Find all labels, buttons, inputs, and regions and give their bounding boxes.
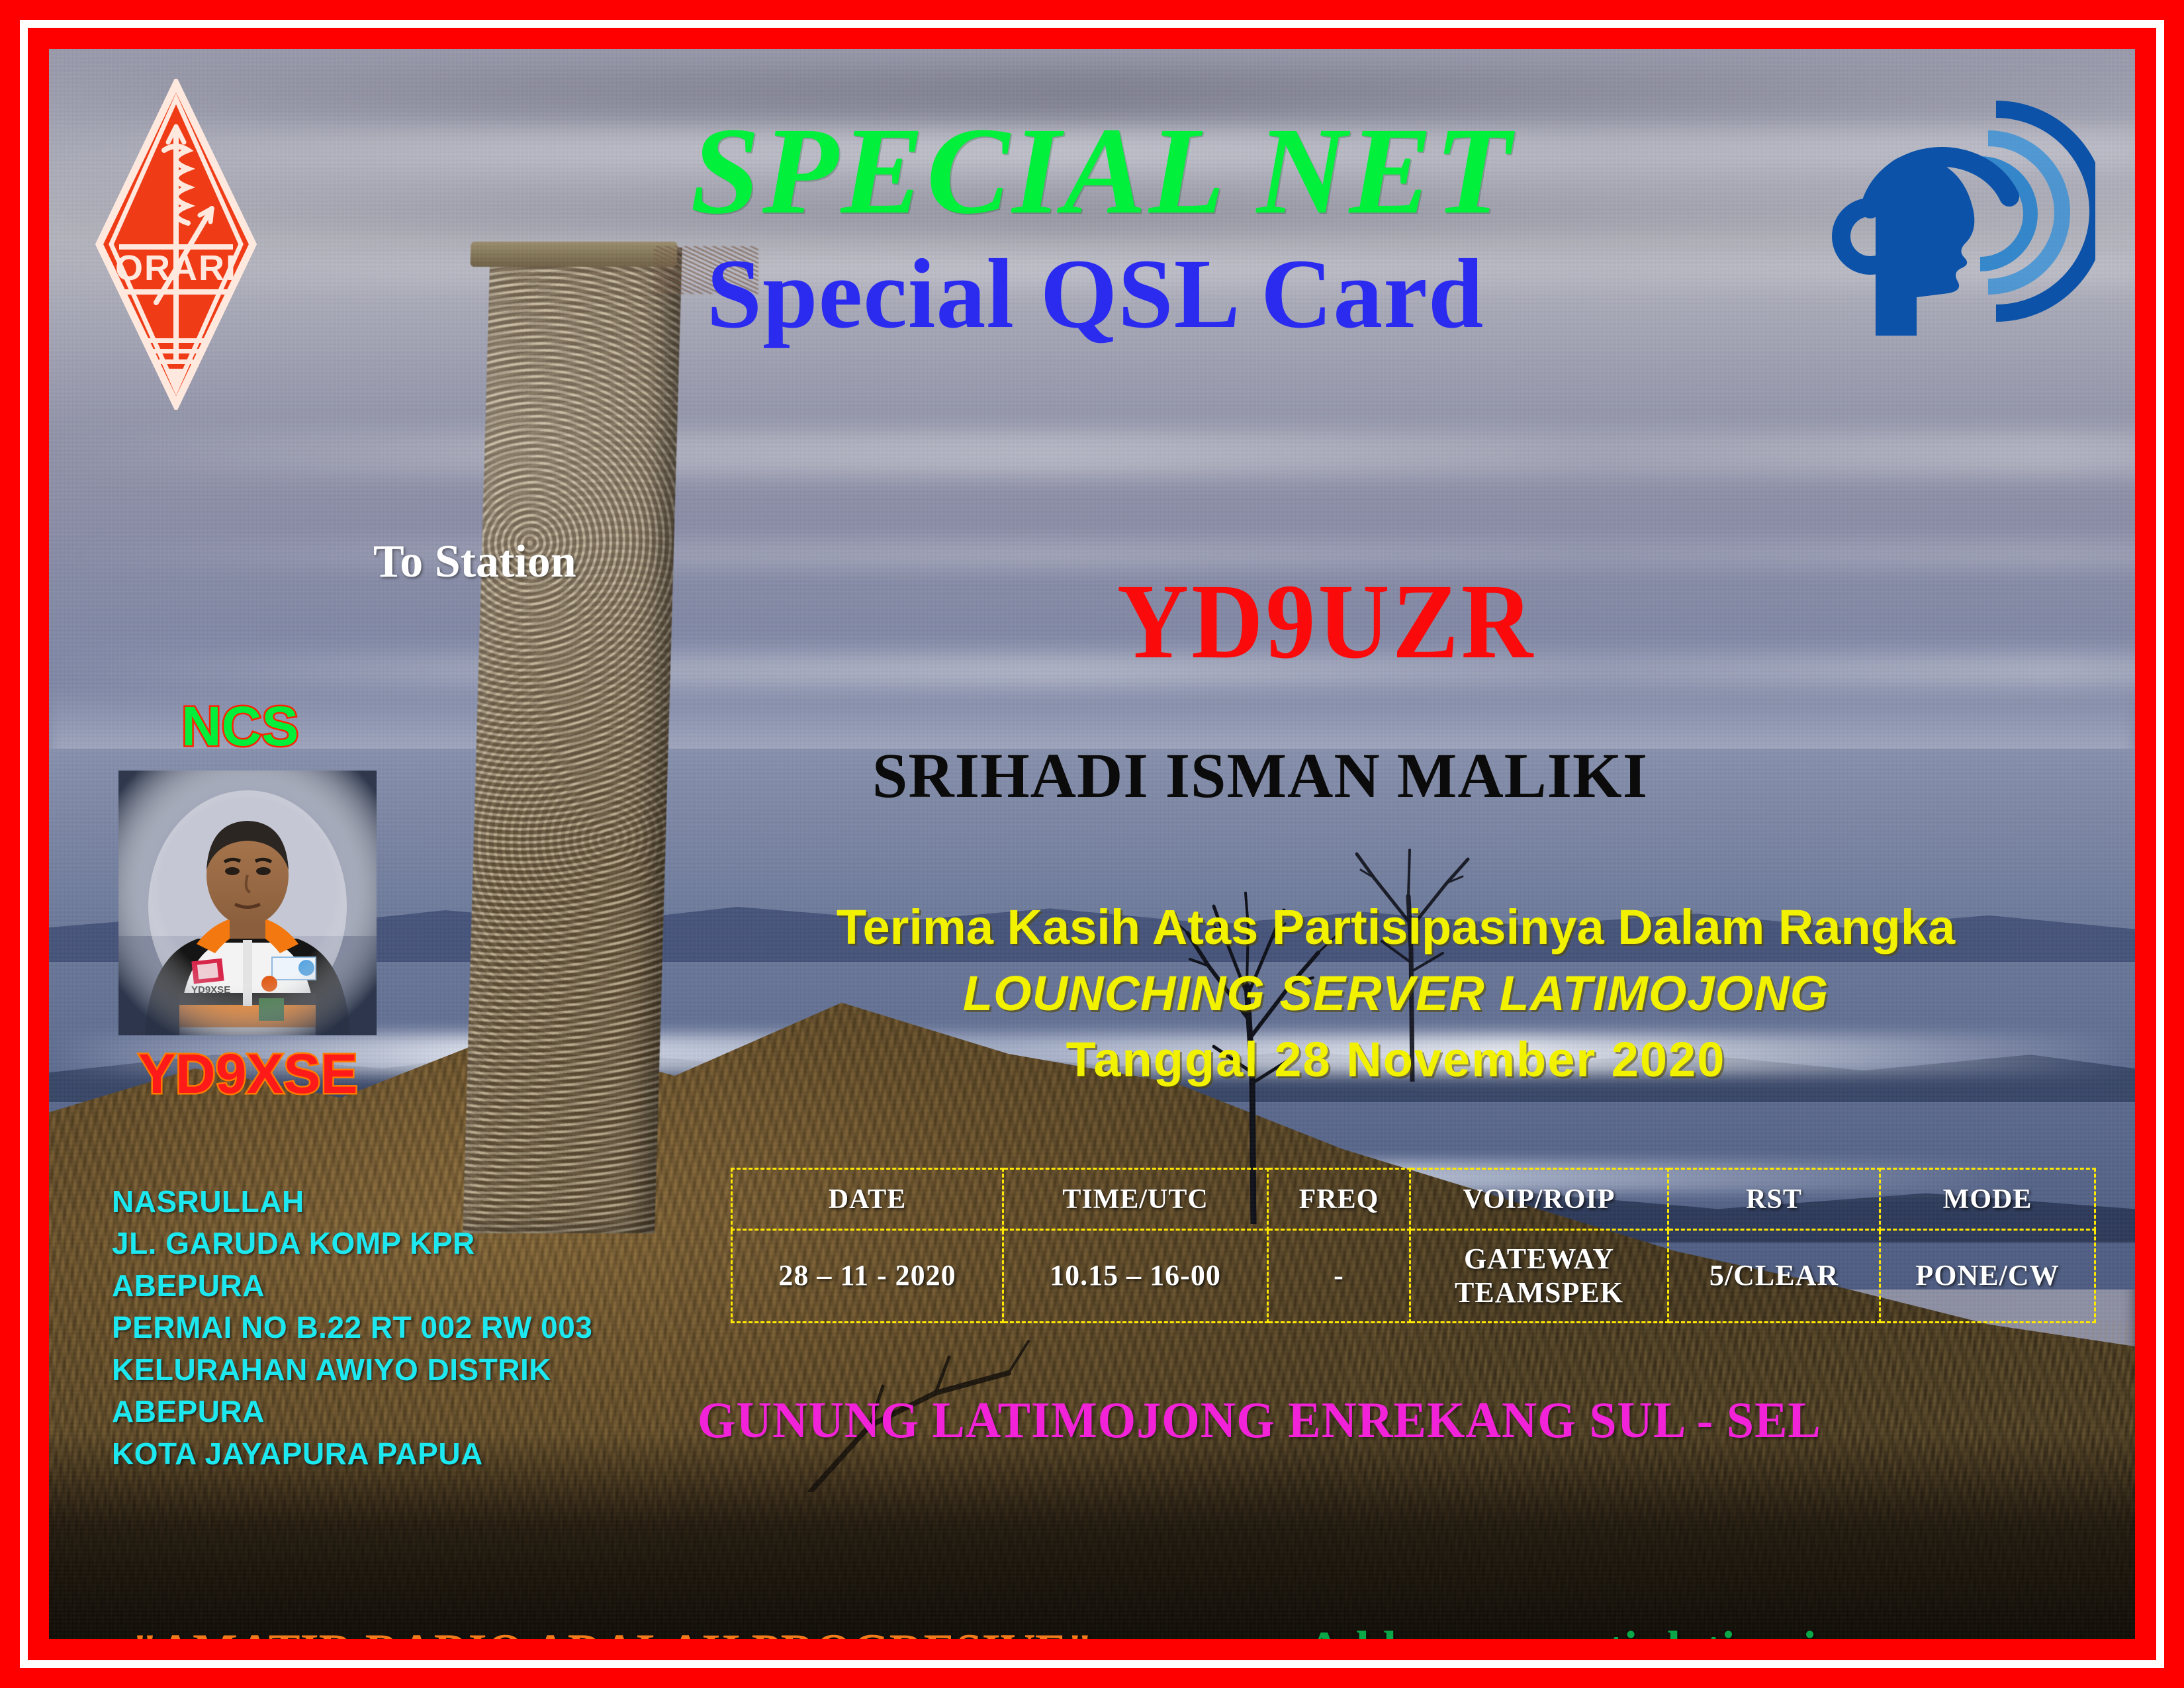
address-line: ABEPURA	[112, 1391, 592, 1432]
to-station-label: To Station	[373, 536, 576, 588]
thanks-line: Terima Kasih Atas Partisipasinya Dalam R…	[757, 903, 2034, 952]
address-line: ABEPURA	[112, 1265, 592, 1307]
operator-portrait-photo: YD9XSE	[118, 771, 377, 1035]
cell-voip-roip: GATEWAY TEAMSPEK	[1410, 1230, 1668, 1323]
card-white-gap: ORARI	[20, 20, 2164, 1668]
cell-rst: 5/CLEAR	[1668, 1230, 1880, 1323]
operator-name: SRIHADI ISMAN MALIKI	[797, 744, 1723, 808]
page-title-special-net: SPECIAL NET	[49, 109, 2135, 233]
ncs-label: NCS	[181, 694, 298, 759]
qsl-card: ORARI	[0, 0, 2184, 1688]
cell-time-utc: 10.15 – 16-00	[1003, 1230, 1268, 1323]
table-header-row: DATE TIME/UTC FREQ VOIP/ROIP RST MODE	[732, 1169, 2095, 1230]
web-address-text: Address : amatir.latimojong.com	[1306, 1624, 1992, 1639]
event-date-line: Tanggal 28 November 2020	[757, 1035, 2034, 1084]
address-line: PERMAI NO B.22 RT 002 RW 003	[112, 1307, 592, 1348]
slogan-text: "AMATIR RADIO ADALAH PROGRESIVE"	[132, 1626, 1093, 1639]
event-line: LOUNCHING SERVER LATIMOJONG	[757, 969, 2034, 1018]
ncs-callsign: YD9XSE	[138, 1042, 358, 1106]
address-line: KELURAHAN AWIYO DISTRIK	[112, 1349, 592, 1391]
col-header-mode: MODE	[1880, 1169, 2095, 1230]
postal-address-block: NASRULLAH JL. GARUDA KOMP KPR ABEPURA PE…	[112, 1181, 592, 1475]
location-line: GUNUNG LATIMOJONG ENREKANG SUL - SEL	[698, 1395, 1955, 1446]
col-header-rst: RST	[1668, 1169, 1880, 1230]
card-inner-red-frame: ORARI	[28, 28, 2156, 1660]
qso-details-table: DATE TIME/UTC FREQ VOIP/ROIP RST MODE 28…	[731, 1168, 2096, 1323]
cell-date: 28 – 11 - 2020	[732, 1230, 1003, 1323]
address-line: JL. GARUDA KOMP KPR	[112, 1223, 592, 1264]
col-header-date: DATE	[732, 1169, 1003, 1230]
table-row: 28 – 11 - 2020 10.15 – 16-00 - GATEWAY T…	[732, 1230, 2095, 1323]
address-line: NASRULLAH	[112, 1181, 592, 1223]
page-subtitle-qsl-card: Special QSL Card	[49, 244, 2135, 344]
cell-freq: -	[1268, 1230, 1410, 1323]
address-line: KOTA JAYAPURA PAPUA	[112, 1433, 592, 1475]
cell-mode: PONE/CW	[1880, 1230, 2095, 1323]
card-photo-area: ORARI	[49, 49, 2135, 1639]
card-content: ORARI	[49, 49, 2135, 1639]
station-callsign: YD9UZR	[995, 568, 1657, 675]
col-header-time-utc: TIME/UTC	[1003, 1169, 1268, 1230]
col-header-voip-roip: VOIP/ROIP	[1410, 1169, 1668, 1230]
col-header-freq: FREQ	[1268, 1169, 1410, 1230]
